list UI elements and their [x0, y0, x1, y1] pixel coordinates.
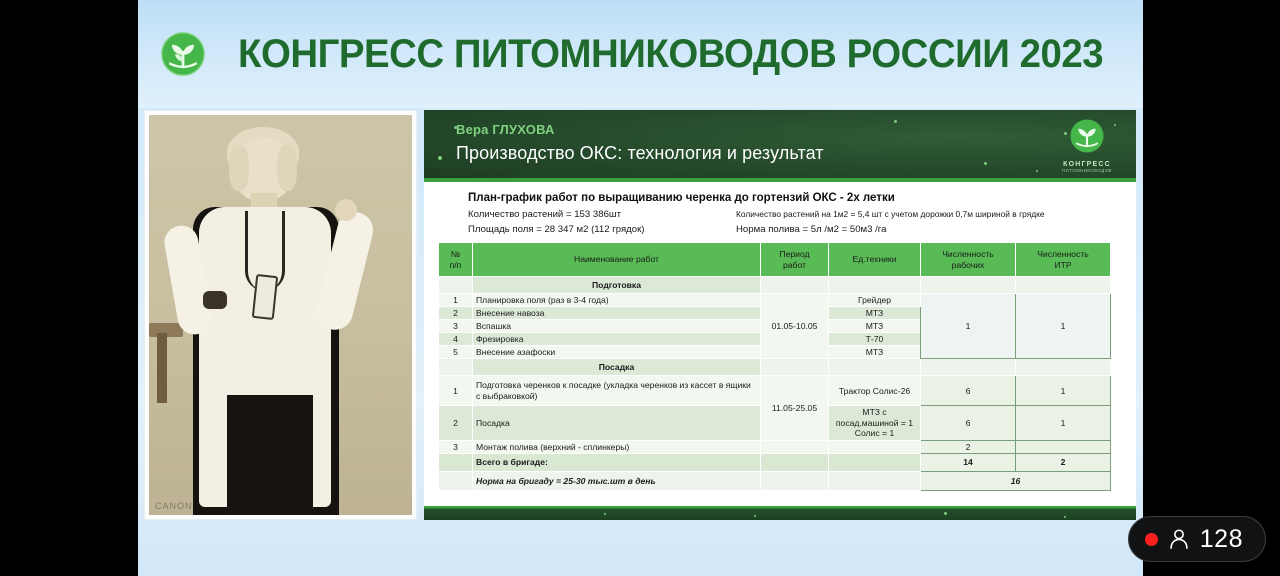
video-watermark: CANON — [155, 501, 193, 511]
norm-value: 16 — [921, 471, 1111, 490]
live-viewer-badge[interactable]: 128 — [1128, 516, 1266, 562]
period-cell: 01.05-10.05 — [761, 294, 829, 359]
workers-cell: 6 — [921, 376, 1016, 406]
slide-stats: Количество растений = 153 386шт Площадь … — [468, 207, 1122, 237]
stat-right-1: Количество растений на 1м2 = 5,4 шт с уч… — [736, 207, 1122, 222]
table-row: 1 Планировка поля (раз в 3-4 года) 01.05… — [439, 294, 1111, 307]
stat-left-2: Площадь поля = 28 347 м2 (112 грядок) — [468, 222, 736, 237]
presenter-video[interactable]: CANON — [144, 110, 417, 520]
slide-title: Производство ОКС: технология и результат — [456, 143, 824, 164]
table-header-row: № п/п Наименование работ Период работ — [439, 243, 1111, 277]
workers-cell: 1 — [921, 294, 1016, 359]
total-workers: 14 — [921, 453, 1016, 471]
total-itr: 2 — [1016, 453, 1111, 471]
event-banner: КОНГРЕСС ПИТОМНИКОВОДОВ РОССИИ 2023 — [138, 0, 1143, 108]
itr-cell: 1 — [1016, 294, 1111, 359]
workers-cell: 2 — [921, 440, 1016, 453]
slide-kicker: План-график работ по выращиванию черенка… — [468, 192, 1122, 204]
table-row: 1 Подготовка черенков к посадке (укладка… — [439, 376, 1111, 406]
live-red-dot-icon — [1145, 533, 1158, 546]
slide-logo-line2: ПИТОМНИКОВОДОВ — [1056, 168, 1118, 173]
total-label: Всего в бригаде: — [473, 453, 761, 471]
norm-label: Норма на бригаду = 25-30 тыс.шт в день — [473, 471, 761, 490]
col-header-number: № п/п — [439, 243, 473, 277]
video-player-stage: КОНГРЕСС ПИТОМНИКОВОДОВ РОССИИ 2023 CANO… — [0, 0, 1280, 576]
congress-sprout-logo-icon — [160, 31, 206, 77]
table-total-row: Всего в бригаде: 14 2 — [439, 453, 1111, 471]
col-header-work-name: Наименование работ — [473, 243, 761, 277]
table-section-row: Посадка — [439, 359, 1111, 376]
workers-cell: 6 — [921, 406, 1016, 441]
slide-footer-bar — [424, 506, 1136, 520]
section-label: Посадка — [473, 359, 761, 376]
presenter-video-image: CANON — [149, 115, 412, 515]
col-header-period: Период работ — [761, 243, 829, 277]
slide-header: Вера ГЛУХОВА Производство ОКС: технологи… — [424, 110, 1136, 182]
table-header: № п/п Наименование работ Период работ — [439, 243, 1111, 277]
person-icon — [1169, 528, 1189, 550]
period-cell: 11.05-25.05 — [761, 376, 829, 441]
table-body: Подготовка 1 Планировка поля (раз в 3-4 … — [439, 277, 1111, 491]
presentation-slide: Вера ГЛУХОВА Производство ОКС: технологи… — [424, 110, 1136, 520]
equipment-cell: МТЗ с посад.машиной = 1 Солис = 1 — [829, 406, 921, 441]
col-header-equipment: Ед.техники — [829, 243, 921, 277]
stat-right-2: Норма полива = 5л /м2 = 50м3 /га — [736, 222, 1122, 237]
work-schedule-table: № п/п Наименование работ Период работ — [438, 242, 1111, 491]
viewer-count: 128 — [1200, 525, 1243, 554]
congress-sprout-logo-icon — [1069, 141, 1105, 158]
table-section-row: Подготовка — [439, 277, 1111, 294]
table-norm-row: Норма на бригаду = 25-30 тыс.шт в день 1… — [439, 471, 1111, 490]
col-header-itr: Численность ИТР — [1016, 243, 1111, 277]
slide-congress-logo: КОНГРЕСС ПИТОМНИКОВОДОВ — [1056, 118, 1118, 173]
slide-body: План-график работ по выращиванию черенка… — [424, 182, 1136, 506]
section-label: Подготовка — [473, 277, 761, 294]
stat-left-1: Количество растений = 153 386шт — [468, 207, 736, 222]
itr-cell: 1 — [1016, 376, 1111, 406]
slide-speaker-name: Вера ГЛУХОВА — [456, 122, 555, 137]
banner-title: КОНГРЕСС ПИТОМНИКОВОДОВ РОССИИ 2023 — [238, 32, 1103, 77]
slide-logo-line1: КОНГРЕСС — [1056, 161, 1118, 168]
itr-cell: 1 — [1016, 406, 1111, 441]
col-header-workers: Численность рабочих — [921, 243, 1016, 277]
stream-content-frame: КОНГРЕСС ПИТОМНИКОВОДОВ РОССИИ 2023 CANO… — [138, 0, 1143, 576]
table-row: 3 Монтаж полива (верхний - сплинкеры) 2 — [439, 440, 1111, 453]
